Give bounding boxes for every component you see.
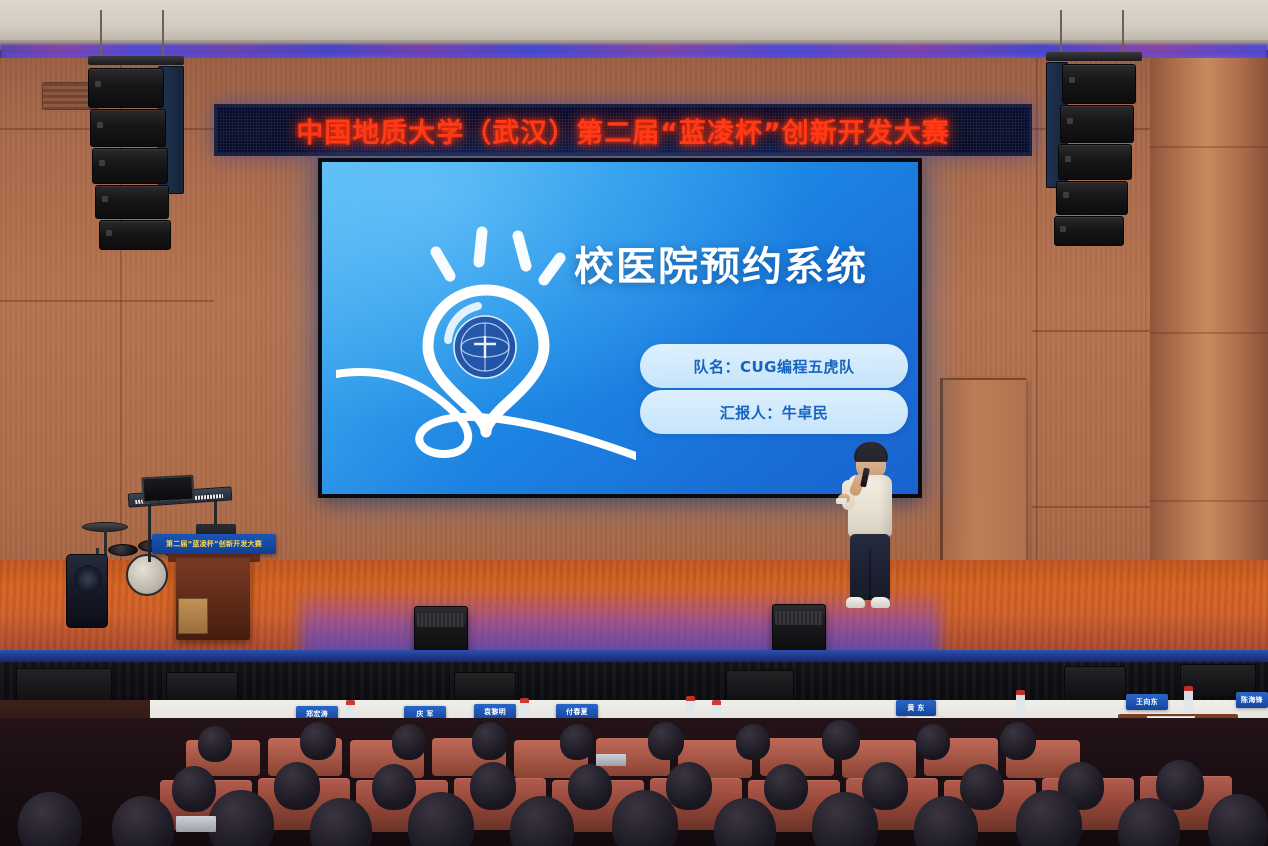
projection-screen-frame: 校医院预约系统 队名：CUG编程五虎队 汇报人：牛卓民 bbox=[318, 158, 922, 498]
stage-wedge-monitor-right bbox=[772, 604, 826, 652]
stage-wedge-monitor-left bbox=[414, 606, 468, 654]
array-cabinet-r2 bbox=[1060, 105, 1134, 143]
audience-head-f6 bbox=[648, 722, 684, 760]
led-banner: 中国地质大学（武汉）第二届“蓝凌杯”创新开发大赛 bbox=[214, 104, 1032, 156]
presenter-legs-pants bbox=[850, 534, 890, 600]
judge-nameplate-7-text: 陈海锋 bbox=[1241, 695, 1263, 705]
team-name-pill: 队名：CUG编程五虎队 bbox=[640, 344, 908, 388]
rig-cable-left-a bbox=[100, 10, 102, 62]
array-cabinet-3 bbox=[92, 148, 168, 184]
audience-laptop-2 bbox=[596, 754, 626, 766]
presenter-head bbox=[856, 444, 886, 478]
audience-head-f5 bbox=[560, 724, 594, 760]
presenter-shoe-right bbox=[871, 597, 890, 608]
column-seam-1 bbox=[1150, 146, 1268, 148]
wedge-grille-left bbox=[417, 613, 465, 627]
wall-seam-mid bbox=[0, 300, 214, 302]
audience-head-n13 bbox=[1208, 794, 1268, 846]
array-cabinet-5 bbox=[99, 220, 171, 250]
audience-head-m5 bbox=[568, 764, 612, 810]
slide-title: 校医院预约系统 bbox=[574, 234, 914, 292]
column-seam-2 bbox=[1150, 332, 1268, 334]
audience-head-f7 bbox=[736, 724, 770, 760]
audience-laptop-1 bbox=[176, 816, 216, 832]
presentation-clicker bbox=[836, 498, 847, 504]
audience-head-f4 bbox=[472, 722, 508, 760]
water-bottle-6 bbox=[1184, 686, 1193, 714]
cardboard-carton bbox=[178, 598, 208, 634]
presentation-slide: 校医院预约系统 队名：CUG编程五虎队 汇报人：牛卓民 bbox=[322, 162, 918, 494]
line-array-right bbox=[1046, 52, 1142, 242]
array-cabinet-2 bbox=[90, 109, 166, 147]
keyboard-stand-left bbox=[148, 500, 151, 562]
stage-front-equipment-5 bbox=[1064, 666, 1126, 702]
line-array-left bbox=[88, 56, 184, 246]
column-seam-3 bbox=[1150, 500, 1268, 502]
audience-head-f9 bbox=[916, 724, 950, 760]
judge-nameplate-5: 黄 东 bbox=[896, 700, 936, 716]
rig-cable-right-b bbox=[1122, 10, 1124, 56]
swoosh-ribbon bbox=[336, 372, 636, 456]
audience-head-f8 bbox=[822, 720, 860, 760]
array-cabinet-r5 bbox=[1054, 216, 1124, 246]
judge-nameplate-6: 王向东 bbox=[1126, 694, 1168, 710]
podium-banner: 第二届“蓝凌杯”创新开发大赛 bbox=[152, 534, 276, 554]
rig-cable-left-b bbox=[162, 10, 164, 60]
audience-head-f10 bbox=[1000, 722, 1036, 760]
rig-cable-right-a bbox=[1060, 10, 1062, 58]
array-cabinet-4 bbox=[95, 185, 169, 219]
portable-pa-speaker bbox=[66, 554, 108, 628]
judge-nameplate-5-text: 黄 东 bbox=[907, 703, 924, 713]
audience-area bbox=[0, 718, 1268, 846]
judge-nameplate-4-text: 付春夏 bbox=[566, 707, 588, 717]
audience-head-m3 bbox=[372, 764, 416, 810]
audience-head-m4 bbox=[470, 762, 516, 810]
water-bottle-5 bbox=[1016, 690, 1025, 718]
array-rigging-frame-right bbox=[1046, 52, 1142, 61]
presenter-name-pill: 汇报人：牛卓民 bbox=[640, 390, 908, 434]
judge-nameplate-3-text: 袁黎明 bbox=[484, 707, 506, 717]
array-cabinet-r3 bbox=[1058, 144, 1132, 180]
bass-drum-shell bbox=[126, 554, 168, 596]
audience-head-m1 bbox=[172, 766, 216, 812]
audience-head-m2 bbox=[274, 762, 320, 810]
drum-pad-1 bbox=[108, 544, 138, 556]
audience-head-m6 bbox=[666, 762, 712, 810]
audience-head-n1 bbox=[18, 792, 82, 846]
array-cabinet-r4 bbox=[1056, 181, 1128, 215]
audience-head-f2 bbox=[300, 722, 336, 760]
stage-front-equipment-4 bbox=[726, 670, 794, 704]
audience-head-m7 bbox=[764, 764, 808, 810]
wedge-grille-right bbox=[775, 611, 823, 625]
judge-nameplate-6-text: 王向东 bbox=[1136, 697, 1158, 707]
array-rigging-frame-left bbox=[88, 56, 184, 65]
wall-panel-line-right bbox=[1036, 58, 1038, 560]
stage-monitor-display bbox=[141, 475, 194, 504]
led-banner-text: 中国地质大学（武汉）第二届“蓝凌杯”创新开发大赛 bbox=[296, 111, 950, 150]
auditorium-scene: 中国地质大学（武汉）第二届“蓝凌杯”创新开发大赛 bbox=[0, 0, 1268, 846]
stage-door[interactable] bbox=[940, 378, 1026, 570]
presenter bbox=[838, 444, 900, 614]
presenter-shoe-left bbox=[846, 597, 865, 608]
audience-head-f3 bbox=[392, 724, 426, 760]
podium-banner-text: 第二届“蓝凌杯”创新开发大赛 bbox=[166, 539, 262, 549]
audience-head-f1 bbox=[198, 726, 232, 762]
university-seal-icon bbox=[452, 314, 518, 380]
array-cabinet-r1 bbox=[1062, 64, 1136, 104]
array-cabinet-1 bbox=[88, 68, 164, 108]
judge-nameplate-7: 陈海锋 bbox=[1236, 692, 1268, 708]
